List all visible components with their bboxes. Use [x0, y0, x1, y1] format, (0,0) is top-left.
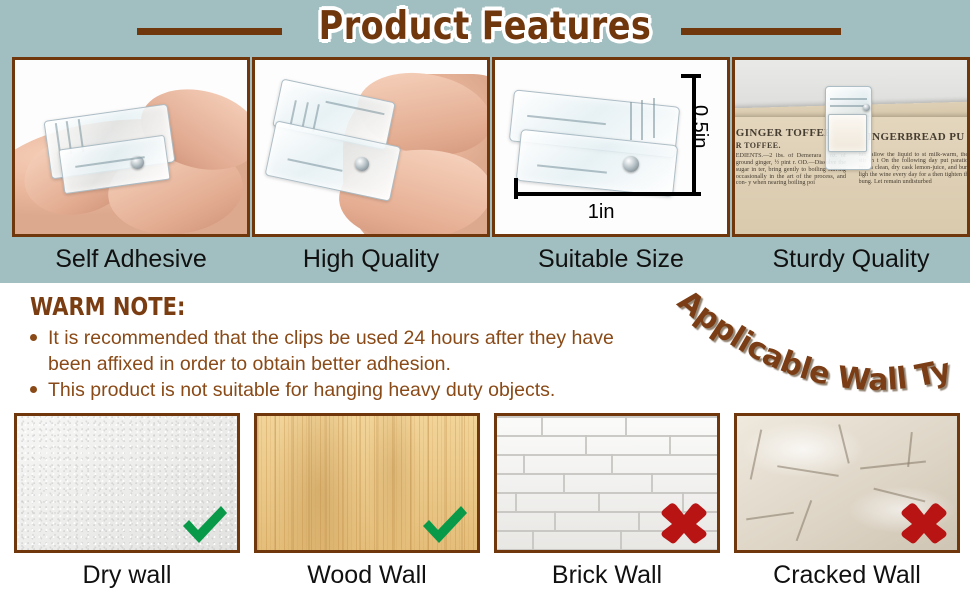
newspaper-body-right: tub, allow the liquid to st milk-warm, t…	[859, 152, 970, 235]
warm-note-item-text: It is recommended that the clips be used…	[48, 327, 614, 375]
dimension-line-horizontal	[514, 192, 702, 196]
feature-caption: Sturdy Quality	[732, 242, 970, 276]
wall-caption: Brick Wall	[494, 557, 720, 593]
warm-note-list: It is recommended that the clips be used…	[30, 325, 650, 403]
check-icon	[417, 502, 471, 548]
feature-image-high-quality	[252, 57, 490, 237]
warm-note-item: This product is not suitable for hanging…	[30, 377, 650, 403]
cross-icon	[657, 500, 711, 546]
clip-on-newspaper-photo: GINGER TOFFEE GINGERBREAD PU R TOFFEE. E…	[735, 60, 967, 234]
wall-image-cracked-wall	[734, 413, 960, 553]
feature-image-sturdy-quality: GINGER TOFFEE GINGERBREAD PU R TOFFEE. E…	[732, 57, 970, 237]
clip-pinched-photo	[255, 60, 487, 234]
page-title: Product Features	[68, 3, 902, 51]
product-features-section: Product Features	[0, 0, 970, 283]
dimension-label-width: 1in	[588, 201, 615, 224]
feature-image-suitable-size: 0.5in 1in	[492, 57, 730, 237]
wall-caption: Cracked Wall	[734, 557, 960, 593]
newspaper-subhead-left: R TOFFEE.	[736, 142, 836, 151]
dimension-tick-left	[514, 178, 518, 199]
wall-image-dry-wall	[14, 413, 240, 553]
warm-note-section: WARM NOTE: It is recommended that the cl…	[0, 283, 970, 413]
cross-icon	[897, 500, 951, 546]
feature-caption: Suitable Size	[492, 242, 730, 276]
bullet-icon	[30, 386, 37, 393]
warm-note-item-text: This product is not suitable for hanging…	[48, 379, 555, 401]
warm-note-title: WARM NOTE:	[30, 293, 185, 321]
wall-types-section: Dry wall Wood Wall Brick Wall Cracked Wa…	[0, 413, 970, 600]
bullet-icon	[30, 334, 37, 341]
clip-in-fingers-photo	[15, 60, 247, 234]
dimension-tick-top	[681, 74, 702, 78]
feature-caption: Self Adhesive	[12, 242, 250, 276]
feature-caption: High Quality	[252, 242, 490, 276]
warm-note-item: It is recommended that the clips be used…	[30, 325, 650, 377]
newspaper-headline-right: GINGERBREAD PU	[859, 131, 970, 143]
features-header: Product Features	[0, 0, 970, 55]
feature-image-self-adhesive	[12, 57, 250, 237]
wall-caption: Dry wall	[14, 557, 240, 593]
check-icon	[177, 502, 231, 548]
dimension-label-height: 0.5in	[688, 105, 711, 148]
wall-caption: Wood Wall	[254, 557, 480, 593]
wall-image-brick-wall	[494, 413, 720, 553]
clip-dimension-diagram: 0.5in 1in	[495, 60, 727, 234]
wall-image-wood-wall	[254, 413, 480, 553]
